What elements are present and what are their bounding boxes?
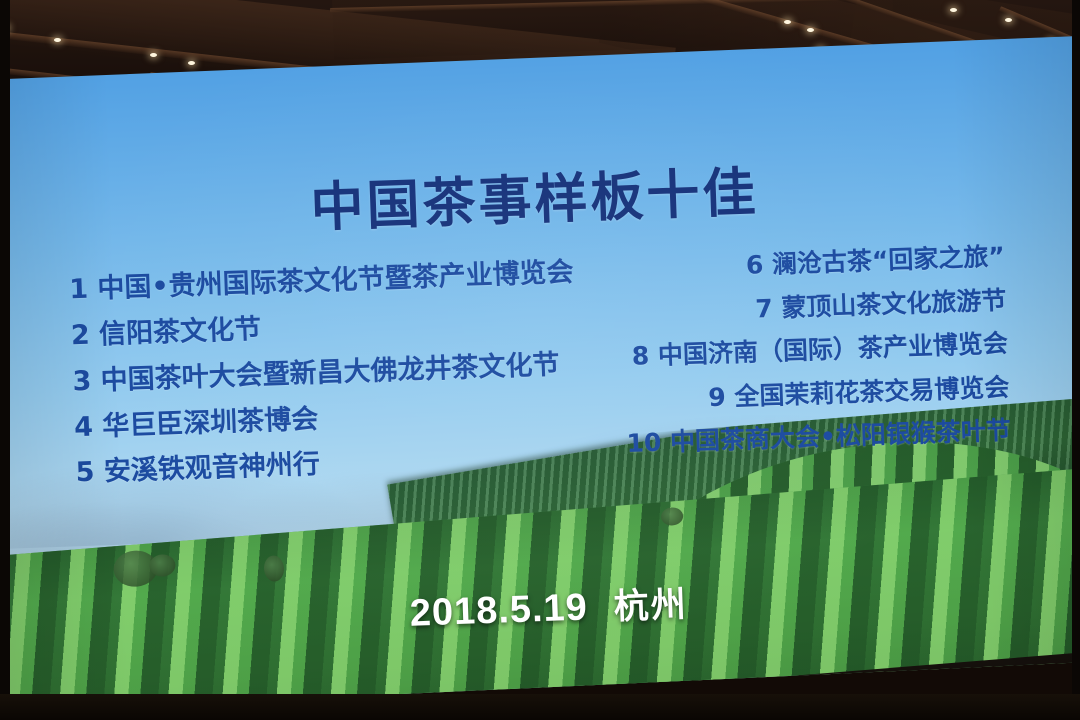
list-item: 7 蒙顶山茶文化旅游节 xyxy=(755,285,1007,323)
list-item: 1 中国•贵州国际茶文化节暨茶产业博览会 xyxy=(69,257,574,306)
ceiling-light xyxy=(950,8,957,12)
presentation-slide: 中国茶事样板十佳 1 中国•贵州国际茶文化节暨茶产业博览会 2 信阳茶文化节 3… xyxy=(0,0,1080,720)
slide-title: 中国茶事样板十佳 xyxy=(0,139,1080,254)
list-item: 8 中国济南（国际）茶产业博览会 xyxy=(631,329,1008,372)
photo-of-conference-screen: 中国茶事样板十佳 1 中国•贵州国际茶文化节暨茶产业博览会 2 信阳茶文化节 3… xyxy=(0,0,1080,720)
ceiling-light xyxy=(54,38,61,42)
event-city: 杭州 xyxy=(613,576,689,630)
screen-frame-left xyxy=(0,0,10,720)
list-item: 10 中国茶商大会•松阳银猴茶叶节 xyxy=(626,416,1011,459)
event-date: 2018.5.19 xyxy=(409,586,588,635)
screen-frame-bottom xyxy=(0,694,1080,720)
list-item: 6 澜沧古茶“回家之旅” xyxy=(745,242,1005,281)
list-item: 3 中国茶叶大会暨新昌大佛龙井茶文化节 xyxy=(72,349,560,398)
projection-screen: 中国茶事样板十佳 1 中国•贵州国际茶文化节暨茶产业博览会 2 信阳茶文化节 3… xyxy=(0,0,1080,720)
award-list-right-column: 6 澜沧古茶“回家之旅” 7 蒙顶山茶文化旅游节 8 中国济南（国际）茶产业博览… xyxy=(636,242,1011,470)
ceiling-light xyxy=(188,61,195,65)
award-list-left-column: 1 中国•贵州国际茶文化节暨茶产业博览会 2 信阳茶文化节 3 中国茶叶大会暨新… xyxy=(69,256,596,489)
ceiling-light xyxy=(784,20,791,24)
ceiling-light xyxy=(150,53,157,57)
award-list: 1 中国•贵州国际茶文化节暨茶产业博览会 2 信阳茶文化节 3 中国茶叶大会暨新… xyxy=(0,239,1080,493)
ceiling-light xyxy=(1005,18,1012,22)
ceiling-light xyxy=(807,28,814,32)
screen-frame-right xyxy=(1072,0,1080,720)
list-item: 2 信阳茶文化节 xyxy=(70,314,261,352)
list-item: 9 全国茉莉花茶交易博览会 xyxy=(708,372,1010,412)
list-item: 4 华巨臣深圳茶博会 xyxy=(74,403,319,443)
